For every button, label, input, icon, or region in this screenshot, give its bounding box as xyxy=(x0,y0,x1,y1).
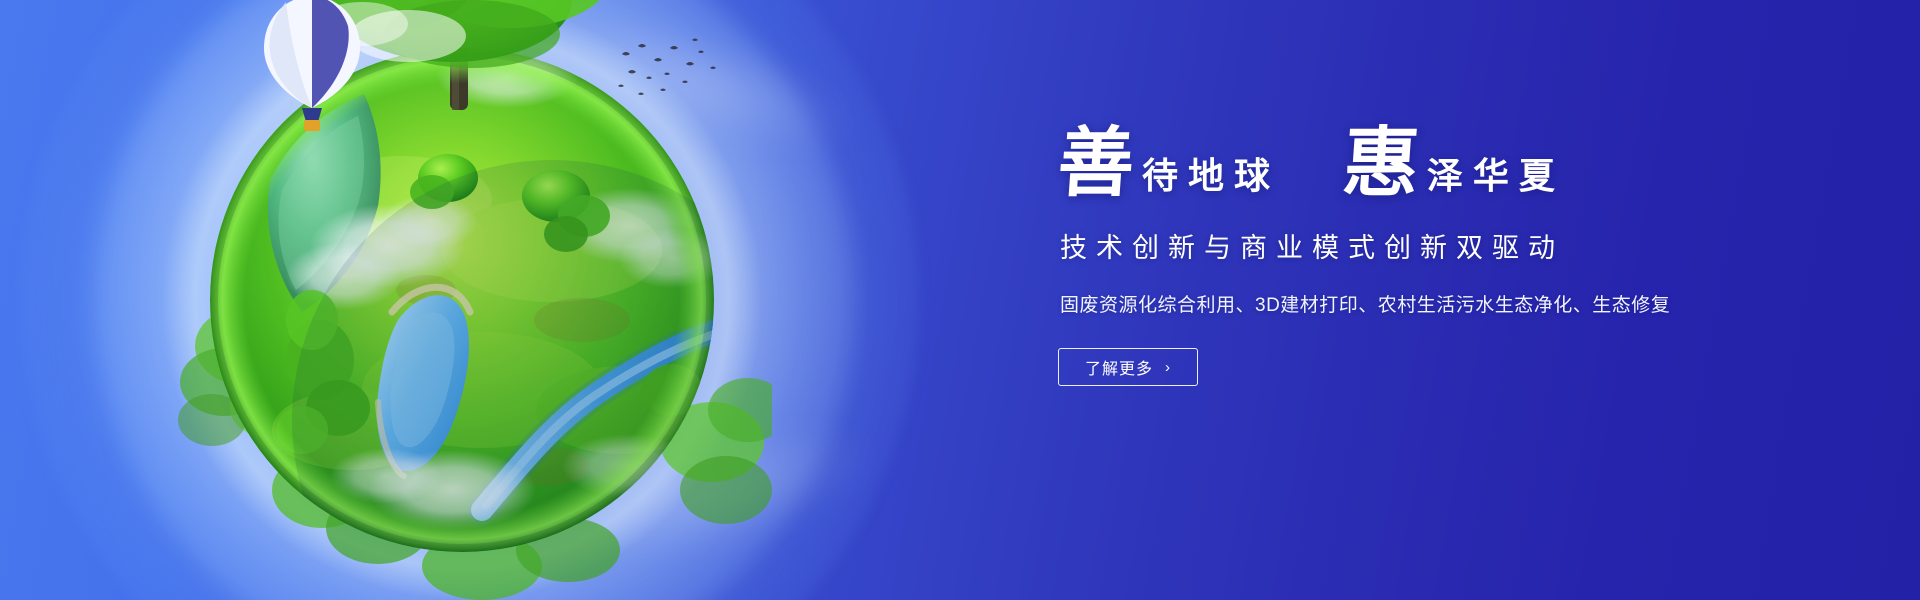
learn-more-button[interactable]: 了解更多 › xyxy=(1058,348,1198,386)
headline-accent-2: 惠 xyxy=(1340,122,1422,206)
chevron-right-icon: › xyxy=(1165,360,1171,375)
headline-rest-1: 待地球 xyxy=(1134,156,1280,206)
hero-banner: 善待地球 惠泽华夏 技术创新与商业模式创新双驱动 固废资源化综合利用、3D建材打… xyxy=(0,0,1920,600)
hero-copy: 善待地球 惠泽华夏 技术创新与商业模式创新双驱动 固废资源化综合利用、3D建材打… xyxy=(1058,122,1818,386)
page-title: 善待地球 惠泽华夏 xyxy=(1058,122,1818,220)
headline-rest-2: 泽华夏 xyxy=(1419,156,1565,206)
hero-tagline: 技术创新与商业模式创新双驱动 xyxy=(1060,230,1818,266)
earth-illustration xyxy=(152,0,772,600)
learn-more-label: 了解更多 xyxy=(1085,355,1153,379)
headline-accent-1: 善 xyxy=(1055,122,1137,206)
headline-phrase-2: 惠泽华夏 xyxy=(1343,122,1565,206)
headline-phrase-1: 善待地球 xyxy=(1058,122,1280,206)
hero-description: 固废资源化综合利用、3D建材打印、农村生活污水生态净化、生态修复 xyxy=(1060,292,1818,320)
